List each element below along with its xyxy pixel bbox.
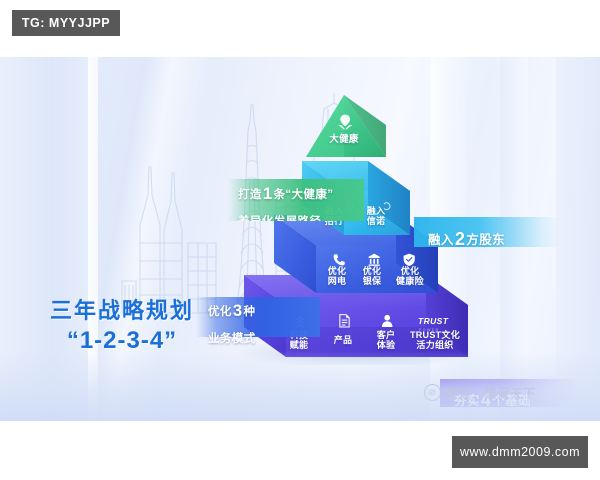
pyramid-label-customer-experience: 客户 体验 — [369, 330, 403, 350]
pyramid-label-product: 产品 — [326, 335, 360, 345]
pyramid-label-online-phone: 优化 网电 — [320, 266, 354, 286]
pyramid-label-health-insurance: 优化 健康险 — [390, 266, 430, 286]
pyramid-label-trust-culture: TRUST文化 活力组织 — [406, 330, 464, 350]
callout-health-number: 1 — [262, 184, 274, 203]
watermark-bottom-right: www.dmm2009.com — [452, 436, 588, 468]
svg-text:TRUST: TRUST — [418, 316, 449, 326]
watermark-top-left: TG: MYYJJPP — [12, 10, 120, 36]
slide-canvas: TRUST POWER 大健康 融入 招行 融入 信诺 优化 网电 优化 银保 … — [0, 57, 600, 421]
callout-health-prefix: 打造 — [238, 189, 262, 201]
callout-shareholders-number: 2 — [454, 229, 466, 249]
callout-shareholders-prefix: 融入 — [428, 233, 454, 247]
callout-shareholders-suffix: 方股东 — [466, 233, 505, 247]
callout-shareholders: 融入2方股东 — [414, 217, 560, 247]
callout-modes-number: 3 — [232, 301, 244, 320]
callout-modes-suffix: 种 — [243, 306, 255, 318]
floor-reflection — [0, 351, 600, 421]
page-title: 三年战略规划 “1-2-3-4” — [22, 297, 222, 356]
pyramid-label-apex: 大健康 — [320, 135, 368, 146]
callout-health-suffix: 条“大健康” — [273, 189, 333, 201]
callout-health: 打造1条“大健康” 差异化发展路径 — [228, 179, 364, 221]
pyramid-label-bancassurance: 优化 银保 — [355, 266, 389, 286]
page-title-line1: 三年战略规划 — [22, 297, 222, 325]
